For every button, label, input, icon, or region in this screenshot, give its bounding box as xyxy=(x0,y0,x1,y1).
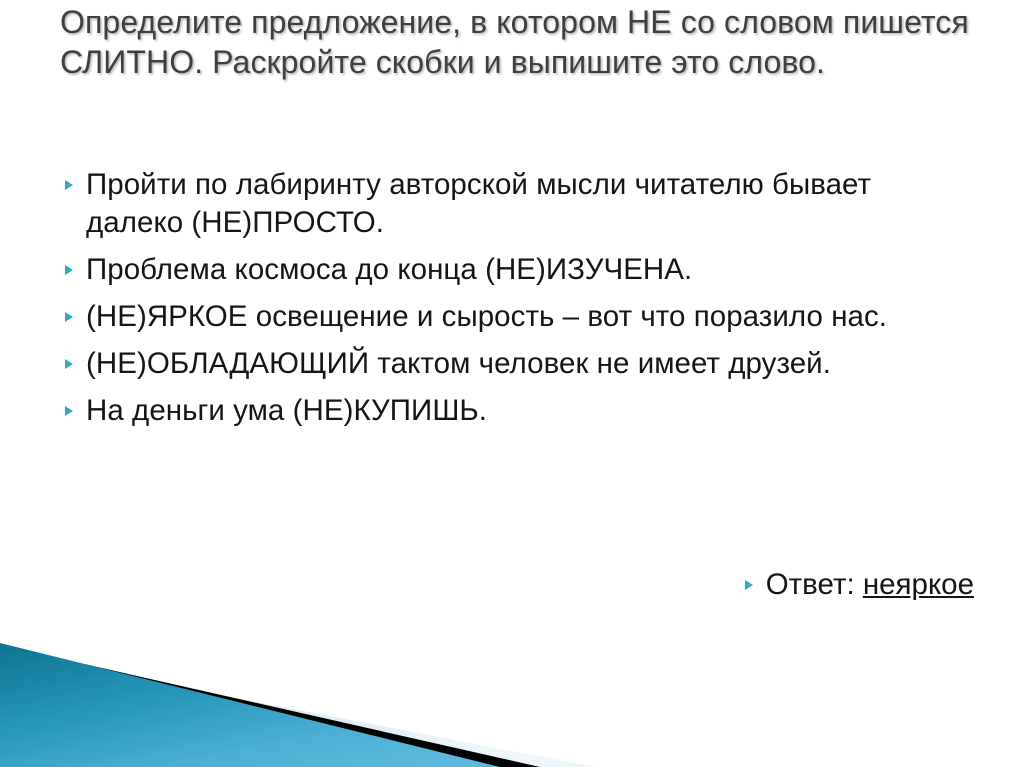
triangle-right-icon xyxy=(742,566,766,592)
answer-label: Ответ: xyxy=(766,568,863,601)
triangle-right-icon xyxy=(62,392,86,418)
triangle-right-icon xyxy=(62,345,86,371)
answer-text: Ответ: неяркое xyxy=(766,566,974,604)
list-item-label: Проблема космоса до конца (НЕ)ИЗУЧЕНА. xyxy=(86,251,974,289)
list-item-label: (НЕ)ОБЛАДАЮЩИЙ тактом человек не имеет д… xyxy=(86,345,974,383)
triangle-right-icon xyxy=(62,166,86,192)
list-item-label: Пройти по лабиринту авторской мысли чита… xyxy=(86,166,974,242)
page-title: Определите предложение, в котором НЕ со … xyxy=(60,2,980,83)
list-item-label: На деньги ума (НЕ)КУПИШЬ. xyxy=(86,392,974,430)
triangle-right-icon xyxy=(62,251,86,277)
answer-word: неяркое xyxy=(863,568,974,601)
bullet-list: Пройти по лабиринту авторской мысли чита… xyxy=(62,166,974,439)
list-item: На деньги ума (НЕ)КУПИШЬ. xyxy=(62,392,974,430)
triangle-right-icon xyxy=(62,298,86,324)
list-item: (НЕ)ОБЛАДАЮЩИЙ тактом человек не имеет д… xyxy=(62,345,974,383)
slide-canvas: Определите предложение, в котором НЕ со … xyxy=(0,0,1024,767)
list-item: Проблема космоса до конца (НЕ)ИЗУЧЕНА. xyxy=(62,251,974,289)
decoration-pale-wedge xyxy=(0,653,596,767)
list-item: Пройти по лабиринту авторской мысли чита… xyxy=(62,166,974,242)
slide-footer-decoration xyxy=(0,617,1024,767)
decoration-black-stripe xyxy=(0,645,540,767)
list-item-label: (НЕ)ЯРКОЕ освещение и сырость – вот что … xyxy=(86,298,974,336)
answer-line: Ответ: неяркое xyxy=(62,566,974,604)
slide-title-block: Определите предложение, в котором НЕ со … xyxy=(60,2,980,83)
decoration-teal-wedge xyxy=(0,643,500,767)
list-item: (НЕ)ЯРКОЕ освещение и сырость – вот что … xyxy=(62,298,974,336)
